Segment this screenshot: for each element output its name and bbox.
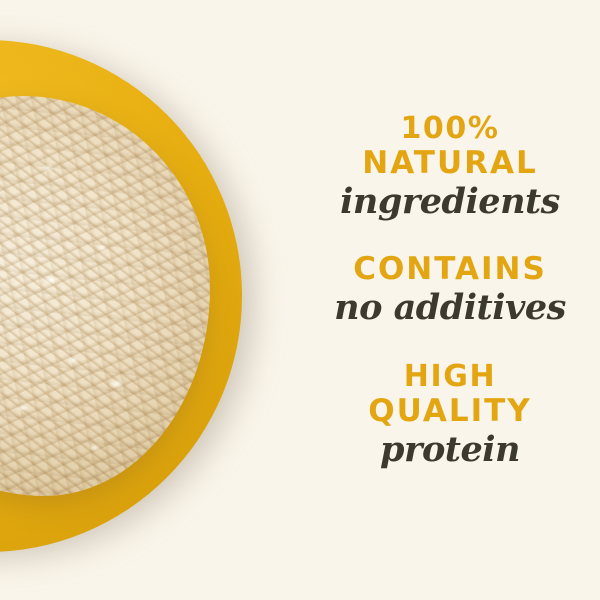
claim-high-quality-protein: HIGH QUALITY protein xyxy=(300,360,600,472)
claim-2-script: no additives xyxy=(300,286,600,330)
product-claims-poster: 100% NATURAL ingredients CONTAINS no add… xyxy=(0,0,600,600)
claim-3-line-1: HIGH xyxy=(300,360,600,394)
claim-3-script: protein xyxy=(300,428,600,472)
claim-natural-ingredients: 100% NATURAL ingredients xyxy=(300,112,600,224)
claim-3-line-2: QUALITY xyxy=(300,394,600,428)
food-highlight-flecks xyxy=(0,96,210,496)
food-photo xyxy=(0,0,310,600)
claim-2-line-1: CONTAINS xyxy=(300,252,600,286)
claim-no-additives: CONTAINS no additives xyxy=(300,252,600,330)
shredded-chicken xyxy=(0,96,210,496)
claim-1-line-2: NATURAL xyxy=(300,146,600,180)
claim-1-line-1: 100% xyxy=(300,112,600,146)
claim-1-script: ingredients xyxy=(300,180,600,224)
claims-column: 100% NATURAL ingredients CONTAINS no add… xyxy=(300,0,600,600)
